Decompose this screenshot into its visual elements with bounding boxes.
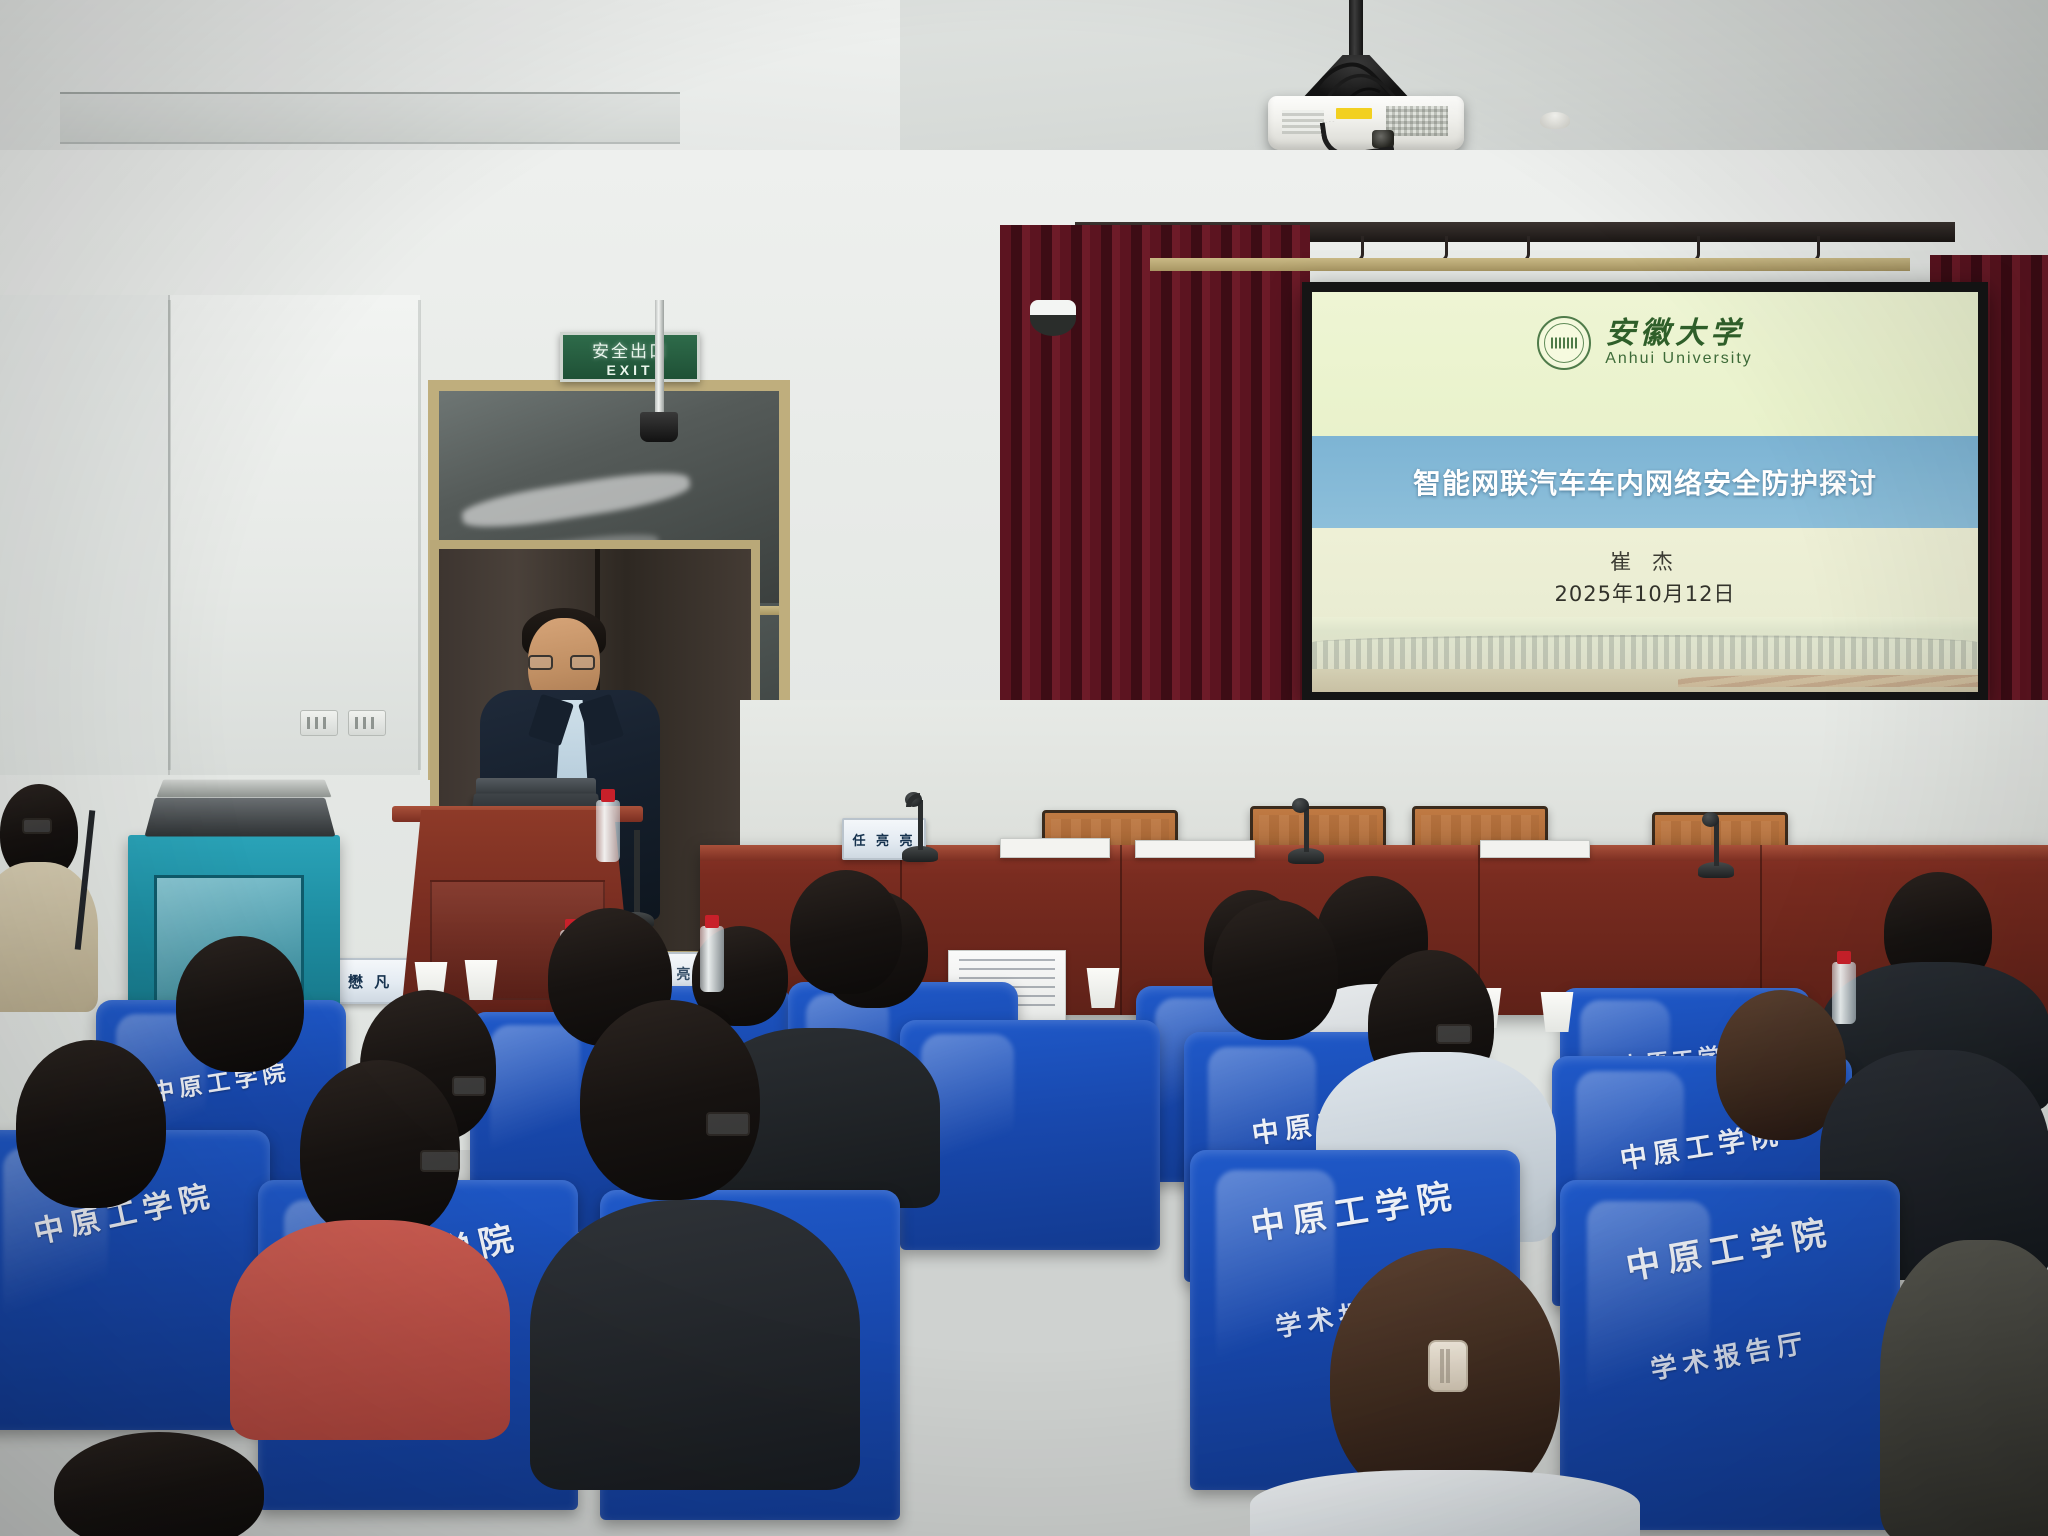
attendee-body-f6: [1880, 1240, 2048, 1536]
cabinet-keyboard[interactable]: [156, 780, 331, 797]
mic-head-3: [1702, 812, 1719, 827]
attendee-body-f3: [530, 1200, 860, 1490]
slide-title-band: 智能网联汽车车内网络安全防护探讨: [1312, 436, 1978, 528]
table-segment-seam: [1120, 845, 1122, 1015]
wall-left-return: [0, 295, 170, 775]
wall-socket-2[interactable]: [348, 710, 386, 736]
paper-sheet-3: [1480, 840, 1590, 858]
slide-surface: 安徽大学 Anhui University 智能网联汽车车内网络安全防护探讨 崔…: [1312, 292, 1978, 692]
ceiling-camera-pole: [655, 300, 664, 418]
university-name-cn: 安徽大学: [1605, 318, 1753, 350]
university-name-en: Anhui University: [1605, 350, 1753, 368]
attendee-head-f5: [54, 1432, 264, 1536]
seat-highlight: [490, 1025, 580, 1170]
seat-highlight: [1216, 1170, 1335, 1394]
projector-side-grille: [1282, 110, 1324, 134]
wall-seam-2: [418, 300, 421, 770]
seat-front-5: 中原工学院 学术报告厅: [1560, 1180, 1900, 1530]
ceiling-camera-icon: [640, 412, 678, 442]
attendee-glasses-f3: [706, 1112, 750, 1136]
lecture-hall-photo: 安徽大学 Anhui University 智能网联汽车车内网络安全防护探讨 崔…: [0, 0, 2048, 1536]
slide-title: 智能网联汽车车内网络安全防护探讨: [1413, 462, 1877, 502]
exit-sign-en: EXIT: [606, 362, 653, 378]
cabinet-monitor: [144, 798, 335, 837]
slide-date: 2025年10月12日: [1312, 578, 1978, 608]
attendee-glasses-f2: [420, 1150, 460, 1172]
projection-screen: 安徽大学 Anhui University 智能网联汽车车内网络安全防护探讨 崔…: [1302, 282, 1988, 702]
wall-trim-top: [1150, 258, 1910, 271]
attendee-body-f4: [1250, 1470, 1640, 1536]
smoke-detector: [1540, 112, 1570, 129]
attendee-head-m4: [790, 870, 902, 994]
podium-mic-stem: [634, 830, 640, 920]
slide-logo-row: 安徽大学 Anhui University: [1312, 316, 1978, 370]
university-names: 安徽大学 Anhui University: [1605, 318, 1753, 369]
mic-stem-center: [918, 800, 923, 850]
mic-stem-2: [1304, 806, 1309, 852]
paper-sheet-1: [1000, 838, 1110, 858]
university-seal-icon: [1537, 316, 1591, 370]
mic-head-2: [1292, 798, 1309, 813]
hair-clip-icon: [1428, 1340, 1468, 1392]
attendee-head-f3: [580, 1000, 760, 1200]
paper-sheet-2: [1135, 840, 1255, 858]
seat-highlight: [1587, 1201, 1709, 1432]
glasses-lens-left: [528, 655, 553, 670]
attendee-body-f2-red: [230, 1220, 510, 1440]
stage-backdrop: [740, 700, 2048, 850]
water-bottle-3: [1832, 962, 1856, 1024]
seal-emblem: [1551, 338, 1577, 349]
campus-building: [1312, 635, 1978, 670]
campus-photo: [1312, 617, 1978, 692]
ceiling-recess: [60, 92, 680, 144]
wall-socket[interactable]: [300, 710, 338, 736]
attendee-glasses-left: [22, 818, 52, 834]
attendee-head-m5: [1212, 900, 1338, 1040]
attendee-head-f1: [16, 1040, 166, 1208]
campus-running-track: [1678, 675, 1978, 687]
water-bottle-podium: [596, 800, 620, 862]
water-bottle-2: [700, 926, 724, 992]
projector-vent-grille: [1386, 106, 1448, 136]
wall-seam: [168, 300, 171, 770]
emergency-exit-sign: 安全出口 EXIT: [560, 332, 700, 382]
placard-center-text: 任 亮 亮: [852, 830, 915, 849]
attendee-head-m1: [176, 936, 304, 1072]
dome-camera-icon: [1030, 300, 1076, 336]
mic-stem-3: [1714, 820, 1719, 866]
speaker-glasses-icon: [528, 655, 596, 671]
glasses-lens-right: [570, 655, 595, 670]
attendee-glasses-m2: [452, 1076, 486, 1096]
slide-presenter-name: 崔 杰: [1312, 546, 1978, 576]
attendee-glasses-m6: [1436, 1024, 1472, 1044]
